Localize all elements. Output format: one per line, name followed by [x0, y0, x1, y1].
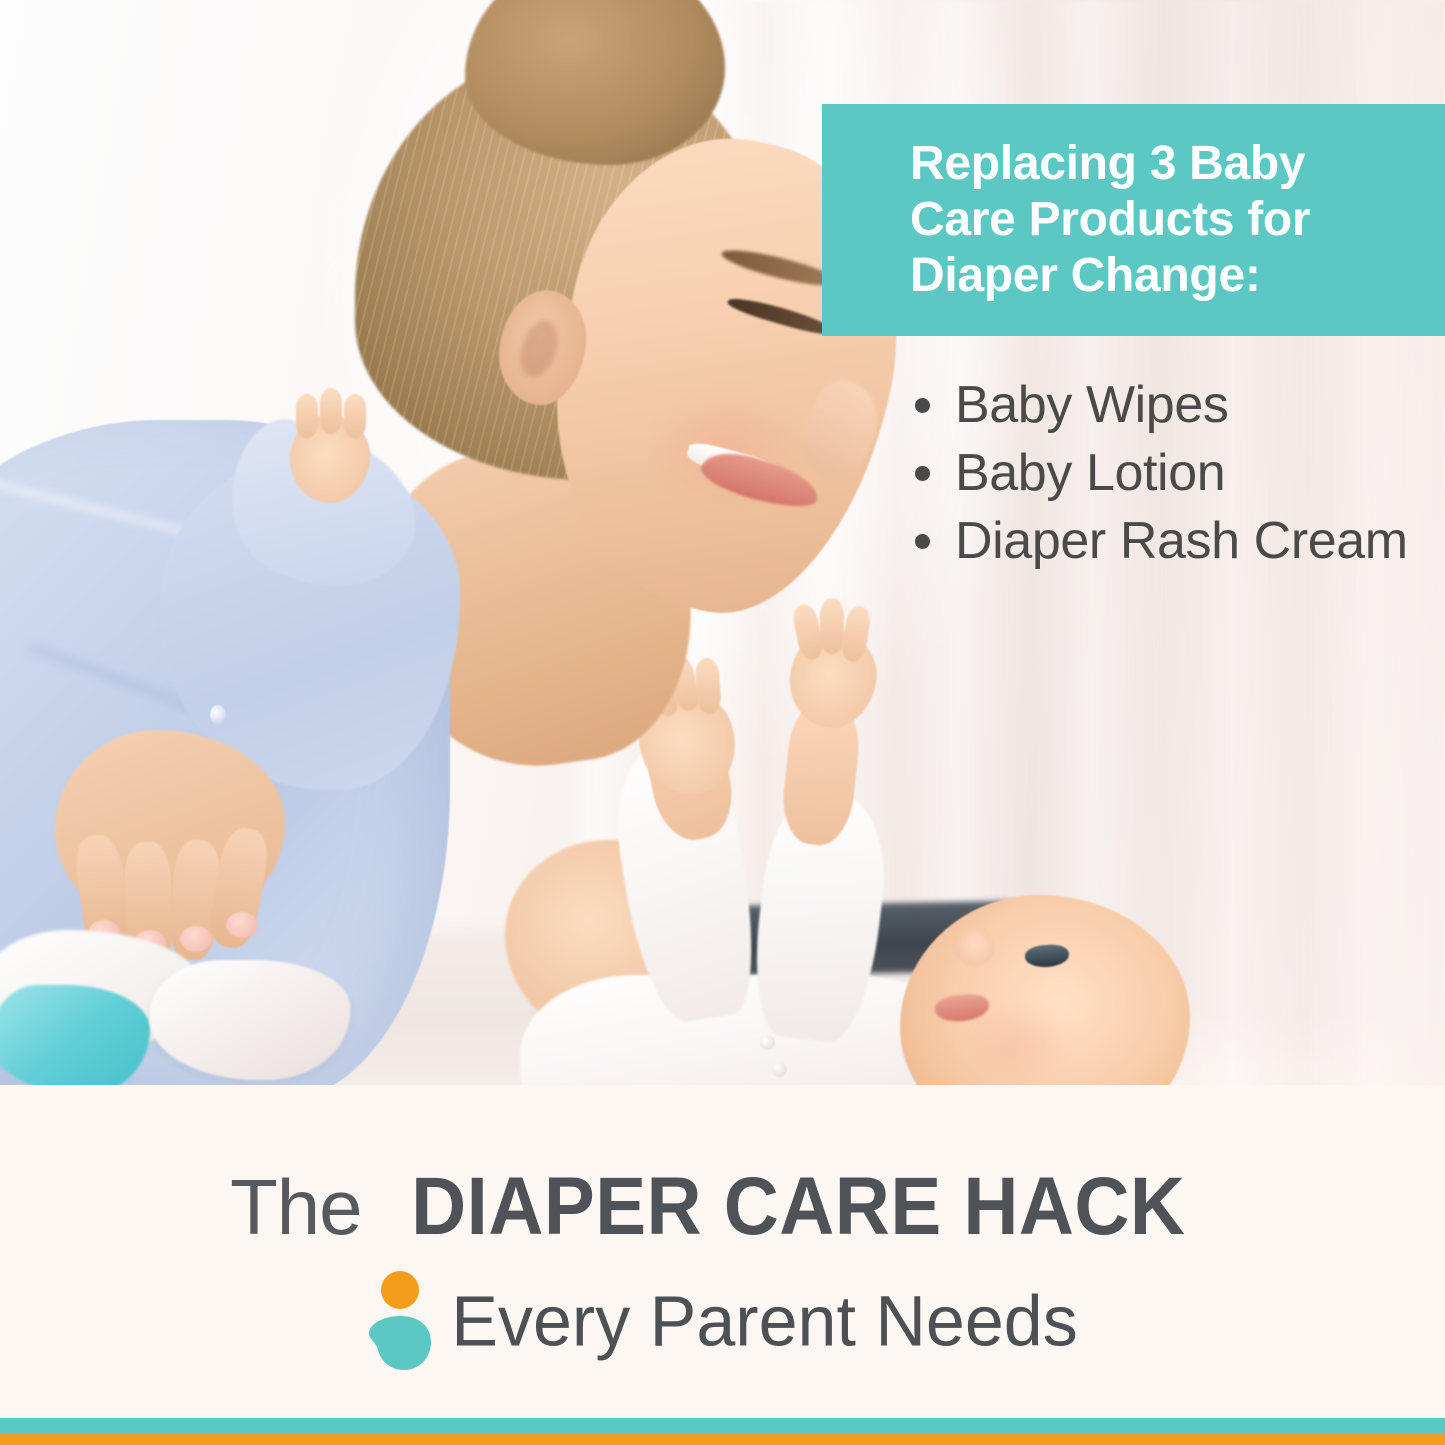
footer-title-main: DIAPER CARE HACK [411, 1160, 1185, 1254]
baby-nose [955, 930, 995, 966]
fingernail [180, 926, 212, 952]
list-item: Diaper Rash Cream [905, 508, 1425, 574]
baby-finger [296, 394, 318, 438]
product-list: Baby Wipes Baby Lotion Diaper Rash Cream [905, 372, 1425, 576]
headline-banner: Replacing 3 Baby Care Products for Diape… [822, 104, 1445, 336]
shirt-button [210, 705, 226, 725]
parent-baby-logo-icon [367, 1270, 433, 1372]
fingernail [226, 912, 258, 938]
mother-figure [0, 0, 860, 1100]
list-item: Baby Wipes [905, 372, 1425, 438]
footer-banner: The DIAPER CARE HACK Every Parent Needs [0, 1085, 1445, 1418]
diaper-teal-trim [0, 985, 150, 1095]
footer-stripe-orange [0, 1433, 1445, 1445]
footer-subtitle: Every Parent Needs [451, 1280, 1077, 1362]
baby-finger [320, 388, 342, 434]
footer-subtitle-row: Every Parent Needs [0, 1270, 1445, 1372]
headline-text: Replacing 3 Baby Care Products for Diape… [822, 136, 1445, 303]
baby-finger [344, 394, 366, 438]
footer-title-prefix: The [230, 1163, 382, 1251]
list-item: Baby Lotion [905, 440, 1425, 506]
footer-title: The DIAPER CARE HACK [0, 1160, 1445, 1254]
baby-wipe [150, 960, 350, 1080]
footer-stripe-teal [0, 1418, 1445, 1433]
promo-graphic: Replacing 3 Baby Care Products for Diape… [0, 0, 1445, 1445]
